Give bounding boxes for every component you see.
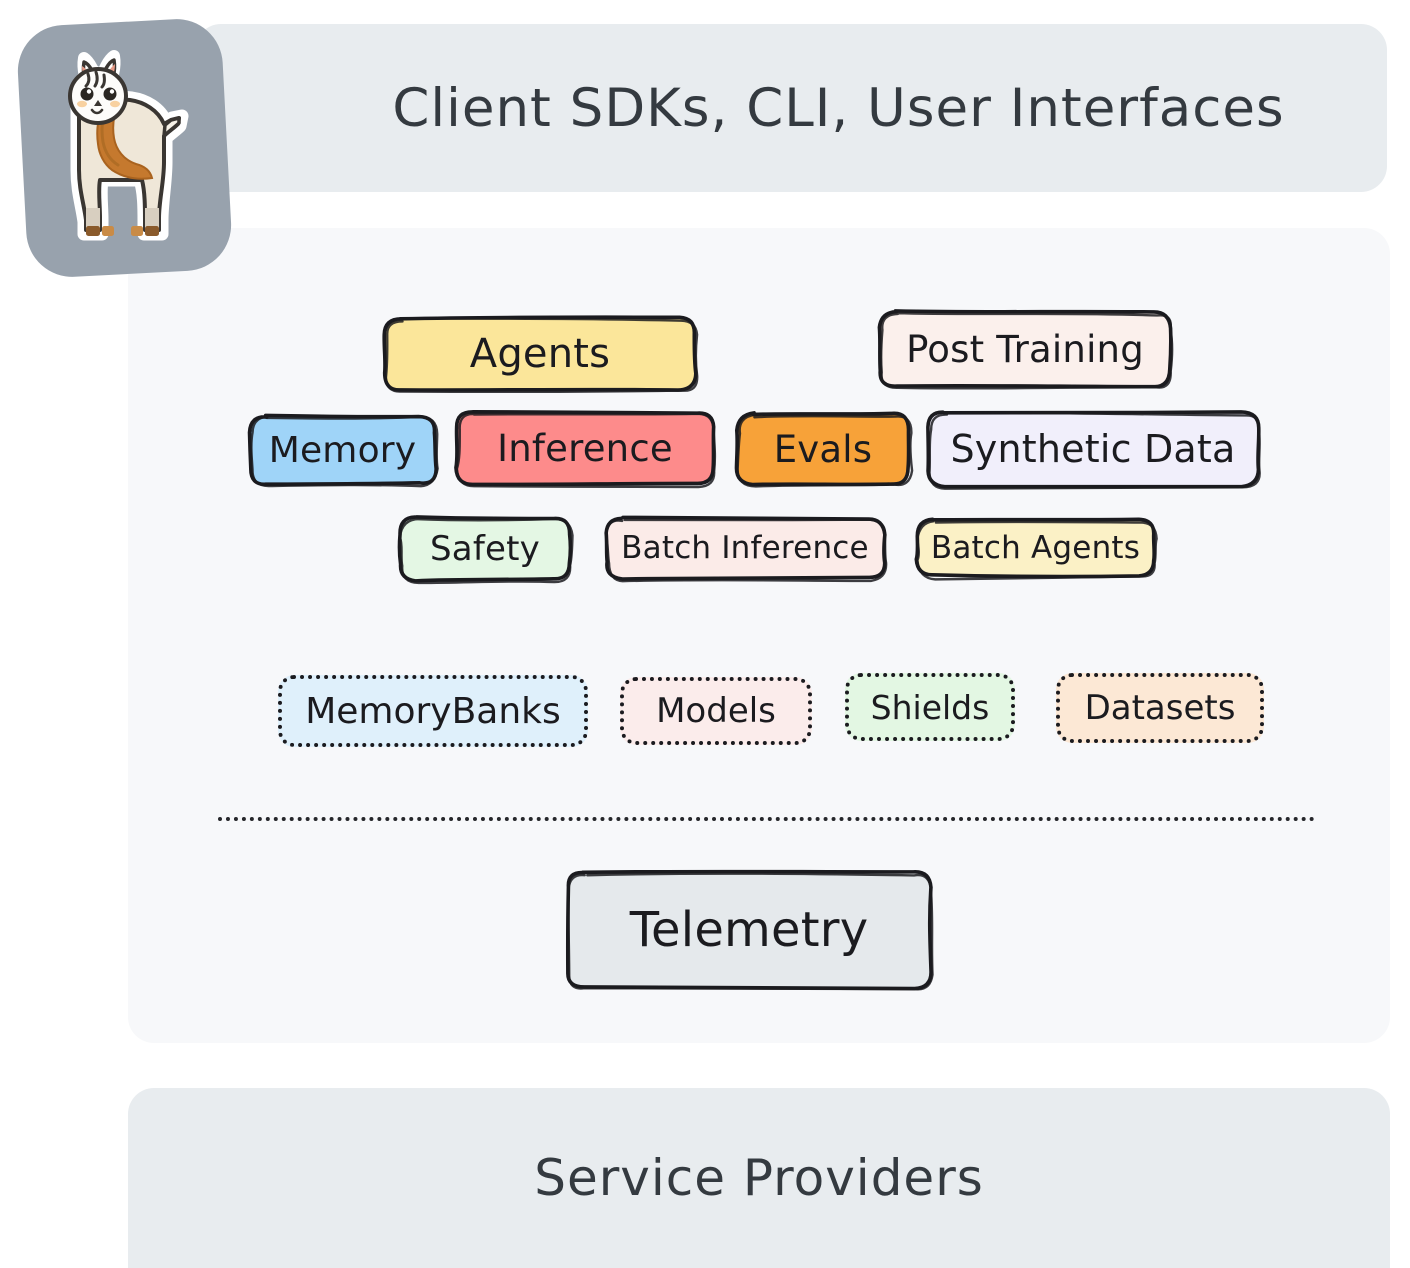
api-box-synthetic-data-label: Synthetic Data	[950, 427, 1235, 471]
resource-box-memorybanks[interactable]: MemoryBanks	[278, 675, 588, 747]
api-box-safety[interactable]: Safety	[400, 518, 570, 580]
api-box-agents-label: Agents	[470, 331, 610, 377]
resource-box-shields-label: Shields	[871, 688, 990, 727]
telemetry-box-label: Telemetry	[630, 902, 869, 958]
telemetry-box[interactable]: Telemetry	[568, 872, 930, 988]
llama-logo-icon	[32, 30, 192, 250]
service-providers-banner: Service Providers	[128, 1088, 1390, 1268]
api-box-inference-label: Inference	[497, 427, 673, 470]
api-box-safety-label: Safety	[430, 529, 540, 569]
resource-box-models[interactable]: Models	[620, 677, 812, 745]
api-box-batch-inference-label: Batch Inference	[621, 530, 869, 566]
api-box-post-training-label: Post Training	[906, 328, 1144, 371]
api-box-batch-agents-label: Batch Agents	[931, 530, 1140, 566]
service-providers-title: Service Providers	[534, 1149, 984, 1207]
api-box-post-training[interactable]: Post Training	[880, 312, 1170, 386]
api-box-evals[interactable]: Evals	[737, 414, 909, 484]
api-box-memory[interactable]: Memory	[250, 416, 435, 484]
resource-box-shields[interactable]: Shields	[845, 673, 1015, 741]
resource-box-models-label: Models	[656, 691, 776, 731]
api-box-batch-agents[interactable]: Batch Agents	[917, 520, 1154, 576]
api-box-synthetic-data[interactable]: Synthetic Data	[928, 412, 1258, 486]
api-box-memory-label: Memory	[269, 430, 417, 471]
api-box-agents[interactable]: Agents	[385, 318, 695, 390]
page-title: Client SDKs, CLI, User Interfaces	[297, 78, 1284, 139]
dotted-divider	[218, 817, 1315, 821]
api-box-evals-label: Evals	[774, 428, 873, 471]
api-box-inference[interactable]: Inference	[457, 412, 713, 484]
api-box-batch-inference[interactable]: Batch Inference	[606, 518, 884, 578]
top-banner: Client SDKs, CLI, User Interfaces	[195, 24, 1387, 192]
resource-box-memorybanks-label: MemoryBanks	[305, 691, 561, 732]
resource-box-datasets-label: Datasets	[1085, 688, 1236, 728]
resource-box-datasets[interactable]: Datasets	[1056, 673, 1264, 743]
